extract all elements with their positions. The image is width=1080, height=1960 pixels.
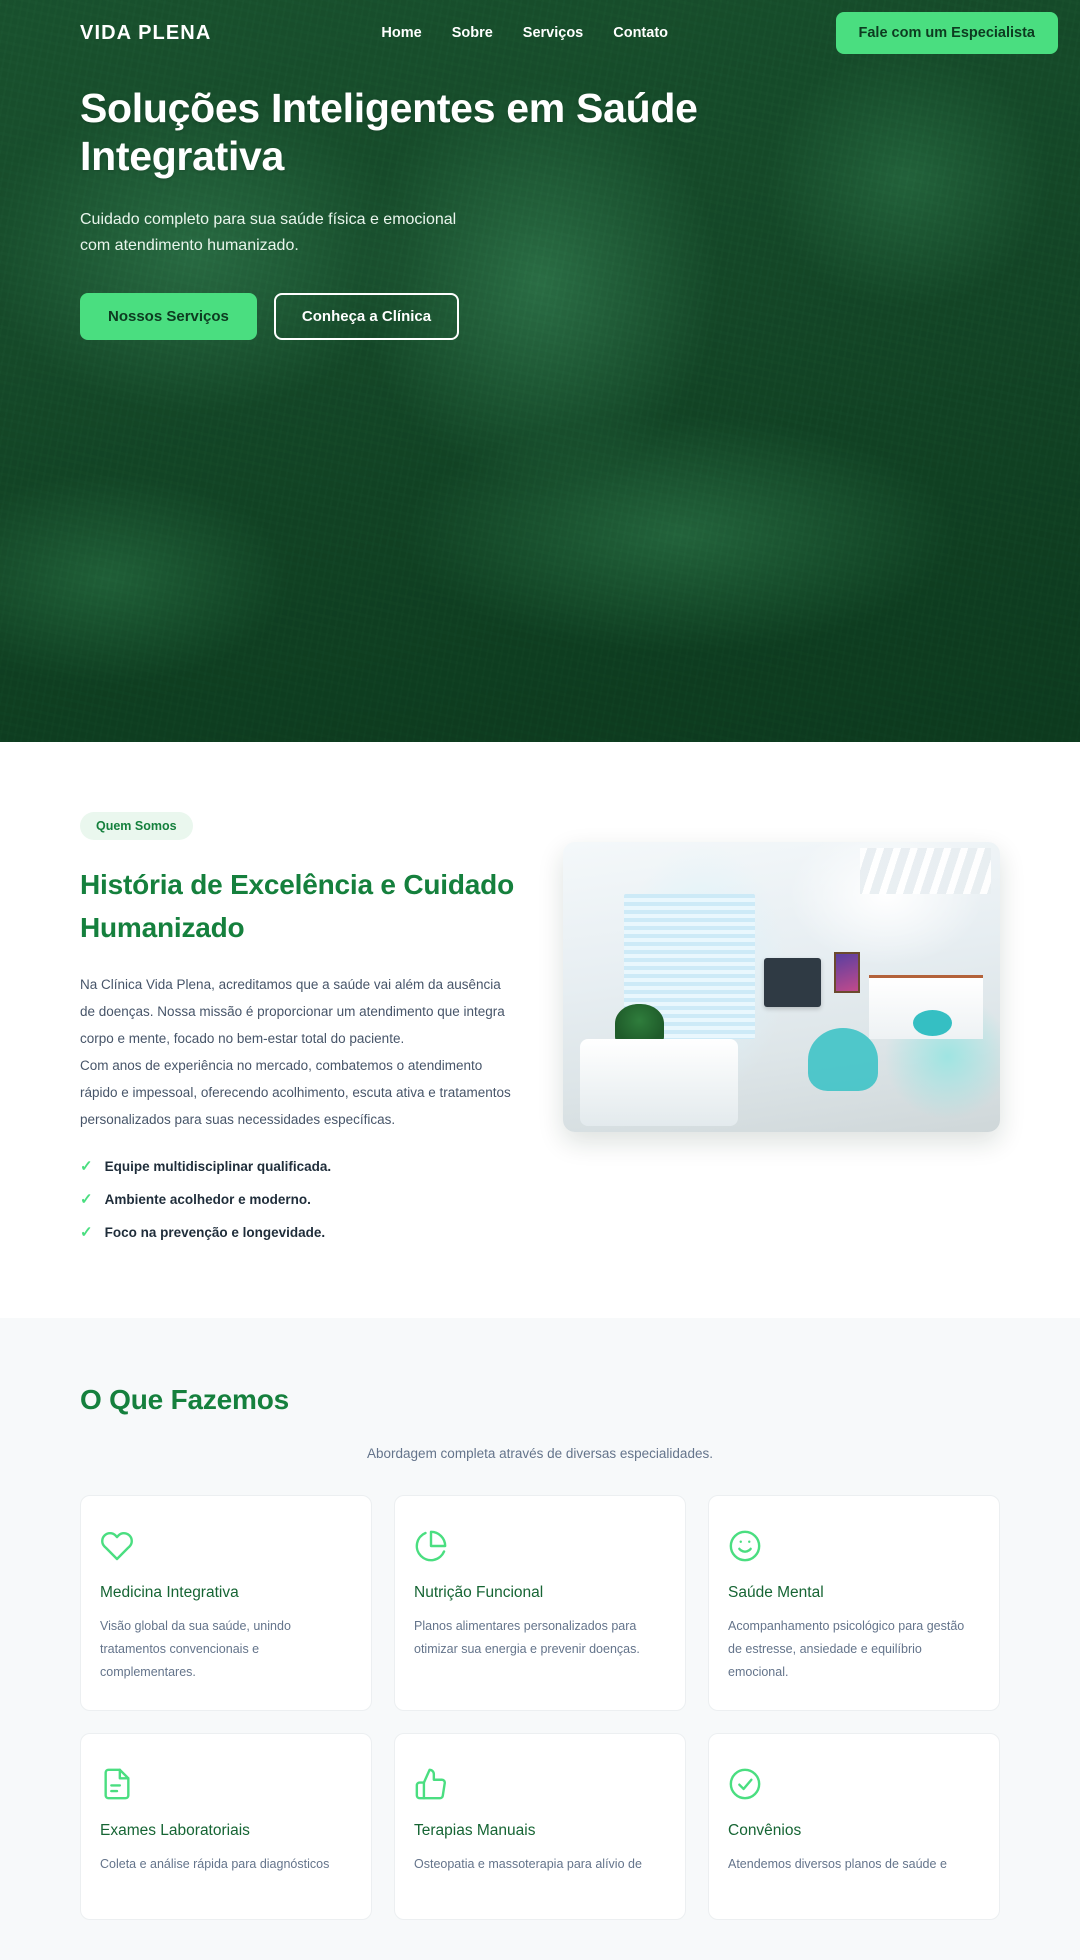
nav-item-sobre[interactable]: Sobre	[452, 25, 493, 41]
about-section: Quem Somos História de Excelência e Cuid…	[0, 742, 1080, 1318]
service-card-medicina-integrativa[interactable]: Medicina Integrativa Visão global da sua…	[80, 1495, 372, 1711]
check-circle-icon	[728, 1764, 980, 1804]
hero-subtitle: Cuidado completo para sua saúde física e…	[80, 207, 480, 259]
service-card-title: Terapias Manuais	[414, 1822, 666, 1840]
check-icon: ✓	[80, 1159, 93, 1174]
service-card-description: Acompanhamento psicológico para gestão d…	[728, 1615, 980, 1684]
hero-title: Soluções Inteligentes em Saúde Integrati…	[80, 84, 760, 181]
services-title: O Que Fazemos	[80, 1384, 1000, 1416]
service-card-title: Nutrição Funcional	[414, 1584, 666, 1602]
list-item: ✓ Equipe multidisciplinar qualificada.	[80, 1159, 515, 1174]
clinic-photo	[563, 842, 1000, 1132]
about-benefit-label: Ambiente acolhedor e moderno.	[105, 1192, 311, 1207]
about-text-column: Quem Somos História de Excelência e Cuid…	[80, 812, 515, 1258]
stool-decor	[913, 1010, 952, 1036]
nav-links: Home Sobre Serviços Contato	[381, 25, 668, 41]
heart-icon	[100, 1526, 352, 1566]
hero-action-buttons: Nossos Serviços Conheça a Clínica	[80, 293, 760, 340]
list-item: ✓ Ambiente acolhedor e moderno.	[80, 1192, 515, 1207]
about-benefit-label: Foco na prevenção e longevidade.	[105, 1225, 326, 1240]
document-icon	[100, 1764, 352, 1804]
service-card-convenios[interactable]: Convênios Atendemos diversos planos de s…	[708, 1733, 1000, 1920]
wall-art-decor	[834, 952, 860, 993]
our-services-button[interactable]: Nossos Serviços	[80, 293, 257, 340]
service-card-title: Saúde Mental	[728, 1584, 980, 1602]
hero-content: Soluções Inteligentes em Saúde Integrati…	[0, 66, 760, 340]
service-card-description: Coleta e análise rápida para diagnóstico…	[100, 1853, 352, 1876]
service-card-description: Atendemos diversos planos de saúde e	[728, 1853, 980, 1876]
ceiling-lights-decor	[860, 848, 991, 894]
about-benefit-label: Equipe multidisciplinar qualificada.	[105, 1159, 332, 1174]
about-benefits-list: ✓ Equipe multidisciplinar qualificada. ✓…	[80, 1159, 515, 1240]
pie-chart-icon	[414, 1526, 666, 1566]
about-badge: Quem Somos	[80, 812, 193, 840]
service-card-title: Exames Laboratoriais	[100, 1822, 352, 1840]
service-card-saude-mental[interactable]: Saúde Mental Acompanhamento psicológico …	[708, 1495, 1000, 1711]
service-card-title: Convênios	[728, 1822, 980, 1840]
know-the-clinic-button[interactable]: Conheça a Clínica	[274, 293, 459, 340]
navbar: VIDA PLENA Home Sobre Serviços Contato F…	[0, 0, 1080, 66]
sink-decor	[580, 1039, 737, 1126]
about-title: História de Excelência e Cuidado Humaniz…	[80, 864, 515, 949]
site-logo[interactable]: VIDA PLENA	[80, 22, 211, 45]
nav-item-home[interactable]: Home	[381, 25, 421, 41]
smiley-icon	[728, 1526, 980, 1566]
about-paragraph-2: Com anos de experiência no mercado, comb…	[80, 1052, 515, 1133]
check-icon: ✓	[80, 1225, 93, 1240]
nav-item-contato[interactable]: Contato	[613, 25, 668, 41]
service-card-exames-laboratoriais[interactable]: Exames Laboratoriais Coleta e análise rá…	[80, 1733, 372, 1920]
service-card-description: Osteopatia e massoterapia para alívio de	[414, 1853, 666, 1876]
services-card-grid: Medicina Integrativa Visão global da sua…	[80, 1495, 1000, 1920]
services-section: O Que Fazemos Abordagem completa através…	[0, 1318, 1080, 1960]
check-icon: ✓	[80, 1192, 93, 1207]
dental-chair-decor	[808, 1028, 878, 1092]
monitor-decor	[764, 958, 821, 1007]
list-item: ✓ Foco na prevenção e longevidade.	[80, 1225, 515, 1240]
service-card-nutricao-funcional[interactable]: Nutrição Funcional Planos alimentares pe…	[394, 1495, 686, 1711]
specialist-contact-button[interactable]: Fale com um Especialista	[836, 12, 1059, 54]
about-paragraph-1: Na Clínica Vida Plena, acreditamos que a…	[80, 971, 515, 1052]
thumbs-up-icon	[414, 1764, 666, 1804]
service-card-terapias-manuais[interactable]: Terapias Manuais Osteopatia e massoterap…	[394, 1733, 686, 1920]
service-card-title: Medicina Integrativa	[100, 1584, 352, 1602]
services-subtitle: Abordagem completa através de diversas e…	[80, 1446, 1000, 1461]
about-image-column	[563, 812, 1000, 1258]
nav-item-servicos[interactable]: Serviços	[523, 25, 583, 41]
service-card-description: Visão global da sua saúde, unindo tratam…	[100, 1615, 352, 1684]
service-card-description: Planos alimentares personalizados para o…	[414, 1615, 666, 1661]
hero-section: VIDA PLENA Home Sobre Serviços Contato F…	[0, 0, 1080, 742]
